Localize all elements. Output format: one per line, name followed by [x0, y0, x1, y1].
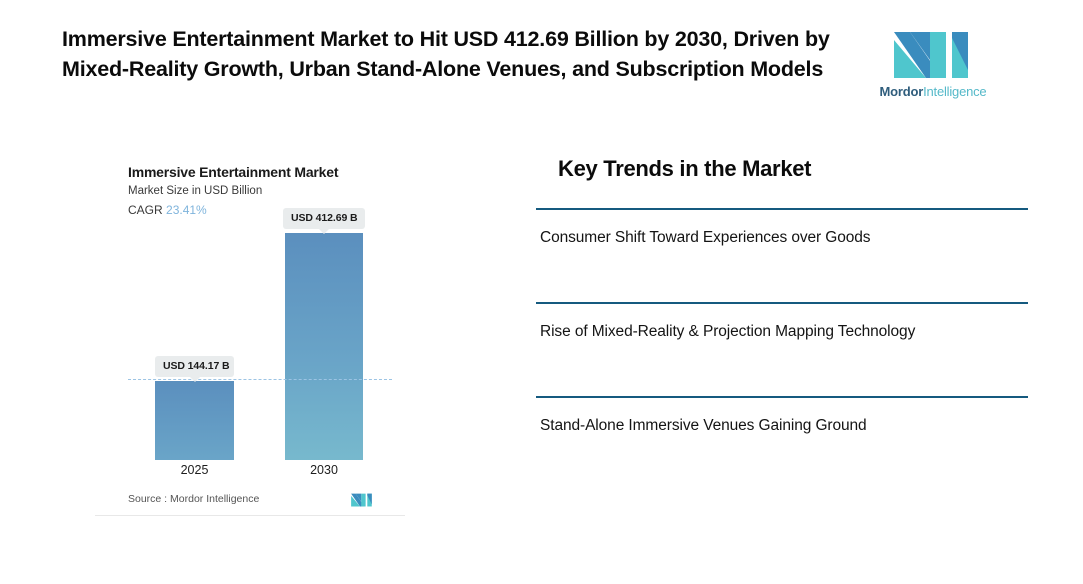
page-header: Immersive Entertainment Market to Hit US… — [0, 0, 1083, 130]
bar-value-label-2030: USD 412.69 B — [283, 208, 365, 229]
bar-2030 — [285, 233, 363, 460]
axis-tick-2025: 2025 — [155, 463, 234, 477]
axis-tick-2030: 2030 — [285, 463, 363, 477]
brand-wordmark-light: Intelligence — [923, 84, 986, 99]
trend-item: Consumer Shift Toward Experiences over G… — [536, 208, 1028, 302]
chart-reference-line — [128, 379, 392, 380]
brand-wordmark-bold: Mordor — [880, 84, 924, 99]
trend-item-text: Rise of Mixed-Reality & Projection Mappi… — [536, 304, 1028, 343]
chart-source-label: Source : Mordor Intelligence — [128, 493, 259, 505]
bar-value-label-2025: USD 144.17 B — [155, 356, 234, 377]
trend-item: Rise of Mixed-Reality & Projection Mappi… — [536, 302, 1028, 396]
brand-wordmark: MordorIntelligence — [874, 84, 992, 99]
page-title: Immersive Entertainment Market to Hit US… — [62, 24, 862, 84]
bar-2025 — [155, 381, 234, 460]
brand-logo: MordorIntelligence — [874, 28, 992, 106]
chart-panel: Immersive Entertainment Market Market Si… — [95, 148, 405, 516]
key-trends-title: Key Trends in the Market — [558, 156, 1028, 182]
mordor-m-logo-icon — [890, 28, 976, 78]
chart-plot-area: USD 144.17 B USD 412.69 B 2025 2030 — [95, 148, 405, 516]
trend-item: Stand-Alone Immersive Venues Gaining Gro… — [536, 396, 1028, 456]
trend-item-text: Consumer Shift Toward Experiences over G… — [536, 210, 1028, 249]
chart-source-row: Source : Mordor Intelligence — [128, 493, 378, 511]
trend-item-text: Stand-Alone Immersive Venues Gaining Gro… — [536, 398, 1028, 437]
chart-bars-container — [95, 148, 405, 460]
mordor-m-logo-icon — [350, 492, 374, 507]
key-trends-section: Key Trends in the Market Consumer Shift … — [536, 156, 1028, 456]
